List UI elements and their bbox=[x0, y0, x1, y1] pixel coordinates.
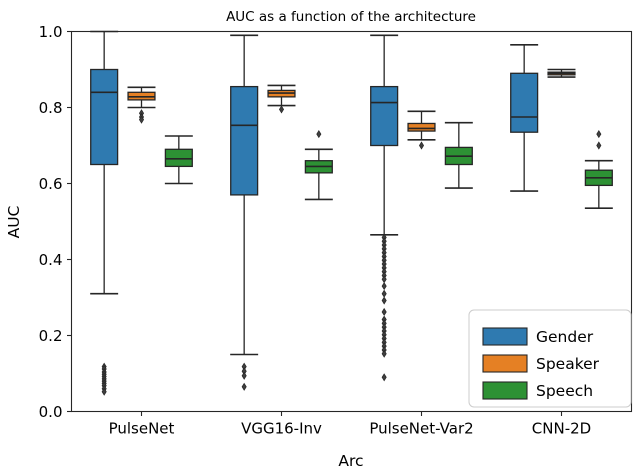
outlier-marker bbox=[242, 372, 246, 379]
legend-swatch-gender bbox=[483, 328, 527, 345]
box-gender-cnn-2d[interactable] bbox=[510, 45, 538, 191]
box-body[interactable] bbox=[408, 123, 435, 131]
box-speaker-cnn-2d[interactable] bbox=[548, 70, 576, 78]
box-gender-pulsenet-var2[interactable] bbox=[370, 35, 398, 380]
box-speech-pulsenet[interactable] bbox=[165, 136, 193, 184]
y-tick-label: 1.0 bbox=[39, 23, 63, 41]
y-axis-label-group: AUC bbox=[5, 206, 23, 239]
y-tick-label: 0.4 bbox=[39, 251, 63, 269]
outlier-marker bbox=[419, 142, 423, 149]
box-body[interactable] bbox=[371, 87, 398, 146]
outlier-marker bbox=[382, 297, 386, 304]
y-tick-label: 0.0 bbox=[39, 403, 63, 421]
chart-canvas: AUC as a function of the architecture 0.… bbox=[0, 0, 640, 473]
box-body[interactable] bbox=[231, 87, 258, 195]
outlier-marker bbox=[597, 131, 601, 138]
outlier-marker bbox=[382, 374, 386, 381]
outlier-marker bbox=[317, 131, 321, 138]
legend-swatch-speaker bbox=[483, 355, 527, 372]
x-tick-label-pulsenet: PulseNet bbox=[109, 420, 175, 438]
chart-title: AUC as a function of the architecture bbox=[226, 9, 476, 25]
legend-label: Speech bbox=[536, 382, 593, 400]
plot-title-group: AUC as a function of the architecture bbox=[226, 9, 476, 25]
outlier-marker bbox=[242, 383, 246, 390]
y-tick-label: 0.8 bbox=[39, 99, 63, 117]
box-body[interactable] bbox=[511, 73, 538, 132]
legend-item-speech[interactable]: Speech bbox=[483, 382, 593, 400]
chart-legend[interactable]: GenderSpeakerSpeech bbox=[469, 310, 631, 407]
x-tick-label-pulsenet-var2: PulseNet-Var2 bbox=[369, 420, 473, 438]
box-speaker-vgg16-inv[interactable] bbox=[268, 85, 296, 112]
box-body[interactable] bbox=[165, 149, 192, 166]
outlier-marker bbox=[597, 142, 601, 149]
y-tick-label: 0.6 bbox=[39, 175, 63, 193]
outlier-marker bbox=[382, 290, 386, 297]
legend-item-gender[interactable]: Gender bbox=[483, 328, 594, 346]
x-axis-ticks: PulseNetVGG16-InvPulseNet-Var2CNN-2D bbox=[109, 412, 592, 438]
outlier-marker bbox=[382, 283, 386, 290]
box-speech-cnn-2d[interactable] bbox=[585, 131, 613, 209]
x-axis-label-group: Arc bbox=[338, 452, 363, 470]
x-tick-label-vgg16-inv: VGG16-Inv bbox=[241, 420, 322, 438]
outlier-marker bbox=[382, 309, 386, 316]
box-plot-figure: AUC as a function of the architecture 0.… bbox=[0, 0, 640, 473]
box-speech-vgg16-inv[interactable] bbox=[305, 131, 333, 200]
x-tick-label-cnn-2d: CNN-2D bbox=[532, 420, 591, 438]
legend-label: Speaker bbox=[536, 355, 600, 373]
legend-label: Gender bbox=[536, 328, 594, 346]
box-gender-vgg16-inv[interactable] bbox=[230, 35, 258, 390]
legend-swatch-speech bbox=[483, 382, 527, 399]
series-speaker bbox=[128, 70, 576, 149]
box-gender-pulsenet[interactable] bbox=[90, 32, 118, 396]
box-speaker-pulsenet[interactable] bbox=[128, 87, 156, 123]
y-axis-label: AUC bbox=[5, 206, 23, 239]
box-speech-pulsenet-var2[interactable] bbox=[445, 123, 473, 188]
legend-item-speaker[interactable]: Speaker bbox=[483, 355, 600, 373]
y-tick-label: 0.2 bbox=[39, 327, 63, 345]
outlier-marker bbox=[279, 106, 283, 113]
box-body[interactable] bbox=[91, 70, 118, 165]
box-speaker-pulsenet-var2[interactable] bbox=[408, 111, 436, 149]
y-axis-ticks: 0.00.20.40.60.81.0 bbox=[39, 23, 72, 421]
x-axis-label: Arc bbox=[338, 452, 363, 470]
